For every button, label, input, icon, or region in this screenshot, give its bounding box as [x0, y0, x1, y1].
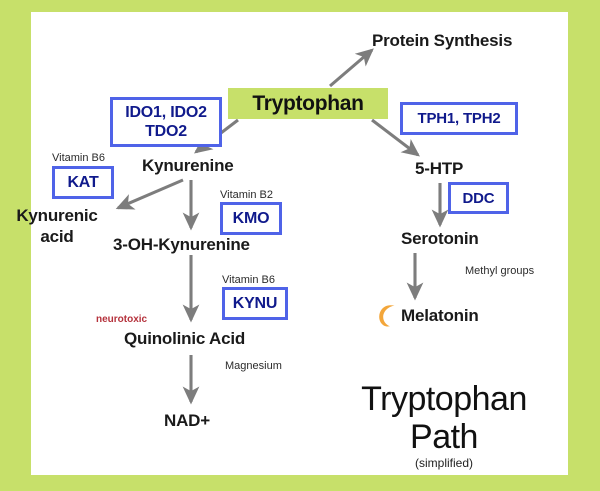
diagram-title-line2: Path [410, 418, 478, 456]
node-3oh-kynurenine: 3-OH-Kynurenine [113, 234, 250, 255]
node-kynurenic-acid-line1: Kynurenic [16, 206, 97, 225]
enzyme-kynu-label: KYNU [233, 294, 278, 313]
cofactor-label-kat: Vitamin B6 [52, 152, 105, 164]
enzyme-box-tph[interactable]: TPH1, TPH2 [400, 102, 518, 135]
cofactor-label-kynu: Vitamin B6 [222, 274, 275, 286]
annotation-neurotoxic: neurotoxic [96, 314, 147, 325]
diagram-title: Tryptophan Path [333, 380, 555, 456]
annotation-magnesium: Magnesium [225, 360, 282, 372]
node-melatonin: Melatonin [401, 305, 479, 326]
enzyme-box-kynu[interactable]: KYNU [222, 287, 288, 320]
diagram-canvas: Protein Synthesis Tryptophan Kynurenine … [0, 0, 600, 491]
node-quinolinic-acid: Quinolinic Acid [124, 328, 245, 349]
node-kynurenine: Kynurenine [142, 155, 234, 176]
enzyme-ido-line2: TDO2 [145, 122, 187, 141]
node-kynurenic-acid-line2: acid [40, 227, 73, 246]
enzyme-ido-line1: IDO1, IDO2 [125, 103, 207, 122]
enzyme-box-kmo[interactable]: KMO [220, 202, 282, 235]
node-serotonin: Serotonin [401, 228, 479, 249]
enzyme-box-kat[interactable]: KAT [52, 166, 114, 199]
diagram-title-line1: Tryptophan [361, 380, 527, 418]
enzyme-kat-label: KAT [67, 173, 98, 192]
enzyme-kmo-label: KMO [233, 209, 270, 228]
diagram-subtitle: (simplified) [333, 456, 555, 470]
node-protein-synthesis: Protein Synthesis [372, 30, 512, 51]
node-kynurenic-acid: Kynurenic acid [14, 205, 100, 247]
enzyme-box-ido-tdo[interactable]: IDO1, IDO2 TDO2 [110, 97, 222, 147]
annotation-methyl-groups: Methyl groups [465, 265, 534, 277]
cofactor-label-kmo: Vitamin B2 [220, 189, 273, 201]
node-nad: NAD+ [164, 410, 210, 431]
node-tryptophan: Tryptophan [228, 88, 388, 119]
enzyme-box-ddc[interactable]: DDC [448, 182, 509, 214]
node-5-htp: 5-HTP [415, 158, 463, 179]
moon-icon [379, 304, 399, 328]
enzyme-tph-label: TPH1, TPH2 [417, 109, 500, 128]
enzyme-ddc-label: DDC [463, 189, 495, 208]
